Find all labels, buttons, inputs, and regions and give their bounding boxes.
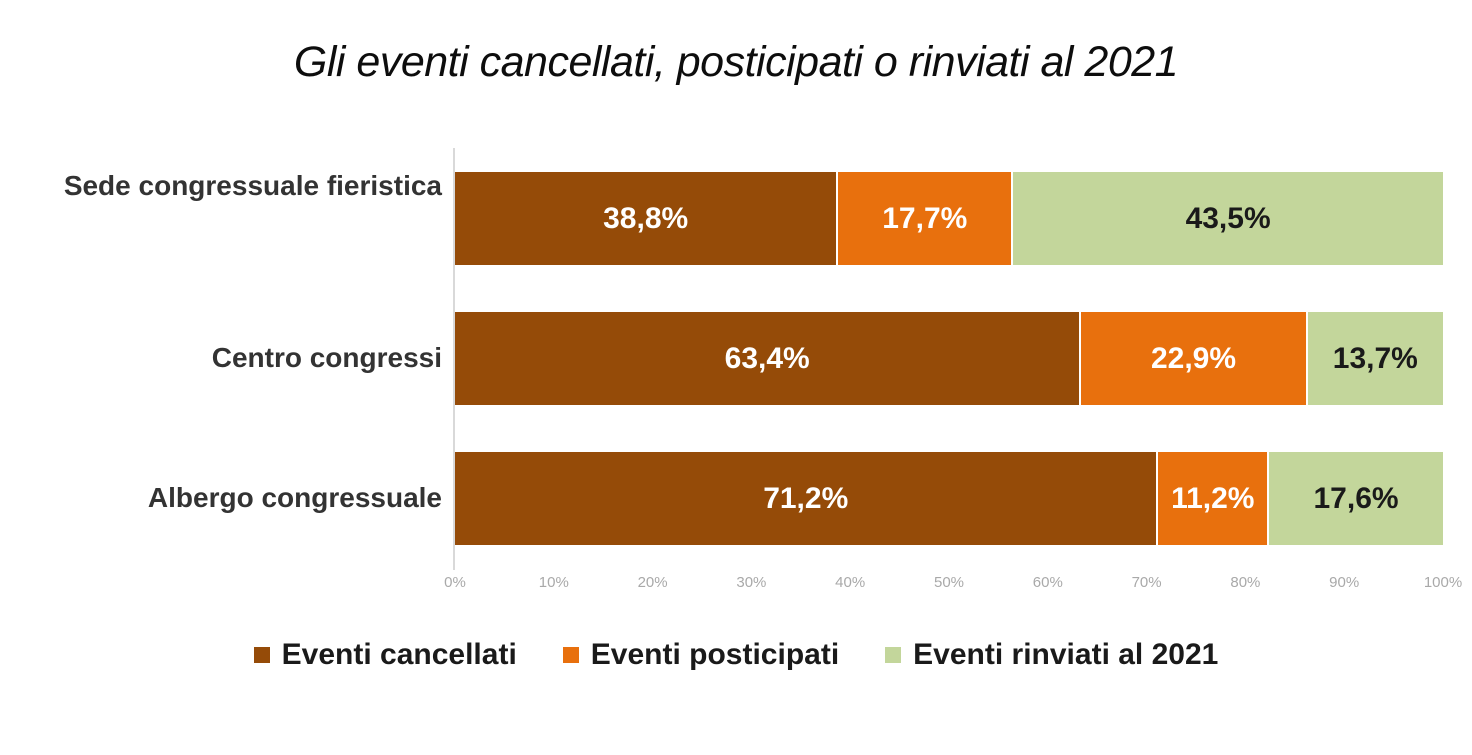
- legend-item-eventi-rinviati-al-2021[interactable]: Eventi rinviati al 2021: [885, 638, 1218, 672]
- bar-segment-eventi-posticipati-centro-congressi: 22,9%: [1081, 312, 1305, 405]
- x-tick-label-100: 100%: [1424, 574, 1462, 591]
- legend-item-eventi-cancellati[interactable]: Eventi cancellati: [254, 638, 517, 672]
- legend-label: Eventi cancellati: [282, 638, 517, 672]
- legend-swatch-icon: [885, 647, 901, 663]
- bar-segment-eventi-rinviati-al-2021-albergo-congressuale: 17,6%: [1269, 452, 1443, 545]
- bar-segment-eventi-cancellati-sede-congressuale-fieristica: 38,8%: [455, 172, 836, 265]
- legend-label: Eventi posticipati: [591, 638, 839, 672]
- x-tick-label-0: 0%: [444, 574, 466, 591]
- bar-segment-eventi-rinviati-al-2021-sede-congressuale-fieristica: 43,5%: [1013, 172, 1443, 265]
- category-label-sede-congressuale-fieristica: Sede congressuale fieristica: [12, 168, 442, 203]
- legend-item-eventi-posticipati[interactable]: Eventi posticipati: [563, 638, 839, 672]
- bar-value-label: 17,6%: [1314, 482, 1399, 516]
- value-axis-ticks: 0%10%20%30%40%50%60%70%80%90%100%: [455, 574, 1443, 598]
- chart-container: Gli eventi cancellati, posticipati o rin…: [0, 0, 1472, 755]
- bar-value-label: 13,7%: [1333, 342, 1418, 376]
- category-label-text: Sede congressuale fieristica: [64, 170, 442, 201]
- bar-value-label: 43,5%: [1186, 202, 1271, 236]
- category-label-text: Albergo congressuale: [148, 482, 442, 513]
- bar-value-label: 22,9%: [1151, 342, 1236, 376]
- bar-value-label: 63,4%: [725, 342, 810, 376]
- x-tick-label-90: 90%: [1329, 574, 1359, 591]
- x-tick-label-40: 40%: [835, 574, 865, 591]
- category-label-text: Centro congressi: [212, 342, 442, 373]
- bar-segment-eventi-posticipati-albergo-congressuale: 11,2%: [1158, 452, 1267, 545]
- bar-segment-eventi-rinviati-al-2021-centro-congressi: 13,7%: [1308, 312, 1443, 405]
- bar-value-label: 11,2%: [1171, 482, 1254, 516]
- x-tick-label-70: 70%: [1132, 574, 1162, 591]
- bar-row-albergo-congressuale: 71,2%11,2%17,6%: [455, 452, 1443, 545]
- bar-value-label: 17,7%: [882, 202, 967, 236]
- chart-title: Gli eventi cancellati, posticipati o rin…: [0, 38, 1472, 87]
- plot-area: 38,8%17,7%43,5% 63,4%22,9%13,7% 71,2%11,…: [455, 148, 1443, 570]
- bar-row-sede-congressuale-fieristica: 38,8%17,7%43,5%: [455, 172, 1443, 265]
- bar-value-label: 38,8%: [603, 202, 688, 236]
- bar-segment-eventi-cancellati-centro-congressi: 63,4%: [455, 312, 1079, 405]
- category-label-centro-congressi: Centro congressi: [12, 340, 442, 375]
- category-label-albergo-congressuale: Albergo congressuale: [12, 480, 442, 515]
- chart-legend: Eventi cancellatiEventi posticipatiEvent…: [0, 638, 1472, 672]
- x-tick-label-50: 50%: [934, 574, 964, 591]
- x-tick-label-20: 20%: [638, 574, 668, 591]
- legend-label: Eventi rinviati al 2021: [913, 638, 1218, 672]
- x-tick-label-60: 60%: [1033, 574, 1063, 591]
- x-tick-label-80: 80%: [1230, 574, 1260, 591]
- bar-segment-eventi-cancellati-albergo-congressuale: 71,2%: [455, 452, 1156, 545]
- x-tick-label-30: 30%: [736, 574, 766, 591]
- bar-row-centro-congressi: 63,4%22,9%13,7%: [455, 312, 1443, 405]
- bar-value-label: 71,2%: [763, 482, 848, 516]
- legend-swatch-icon: [563, 647, 579, 663]
- x-tick-label-10: 10%: [539, 574, 569, 591]
- bar-segment-eventi-posticipati-sede-congressuale-fieristica: 17,7%: [838, 172, 1011, 265]
- legend-swatch-icon: [254, 647, 270, 663]
